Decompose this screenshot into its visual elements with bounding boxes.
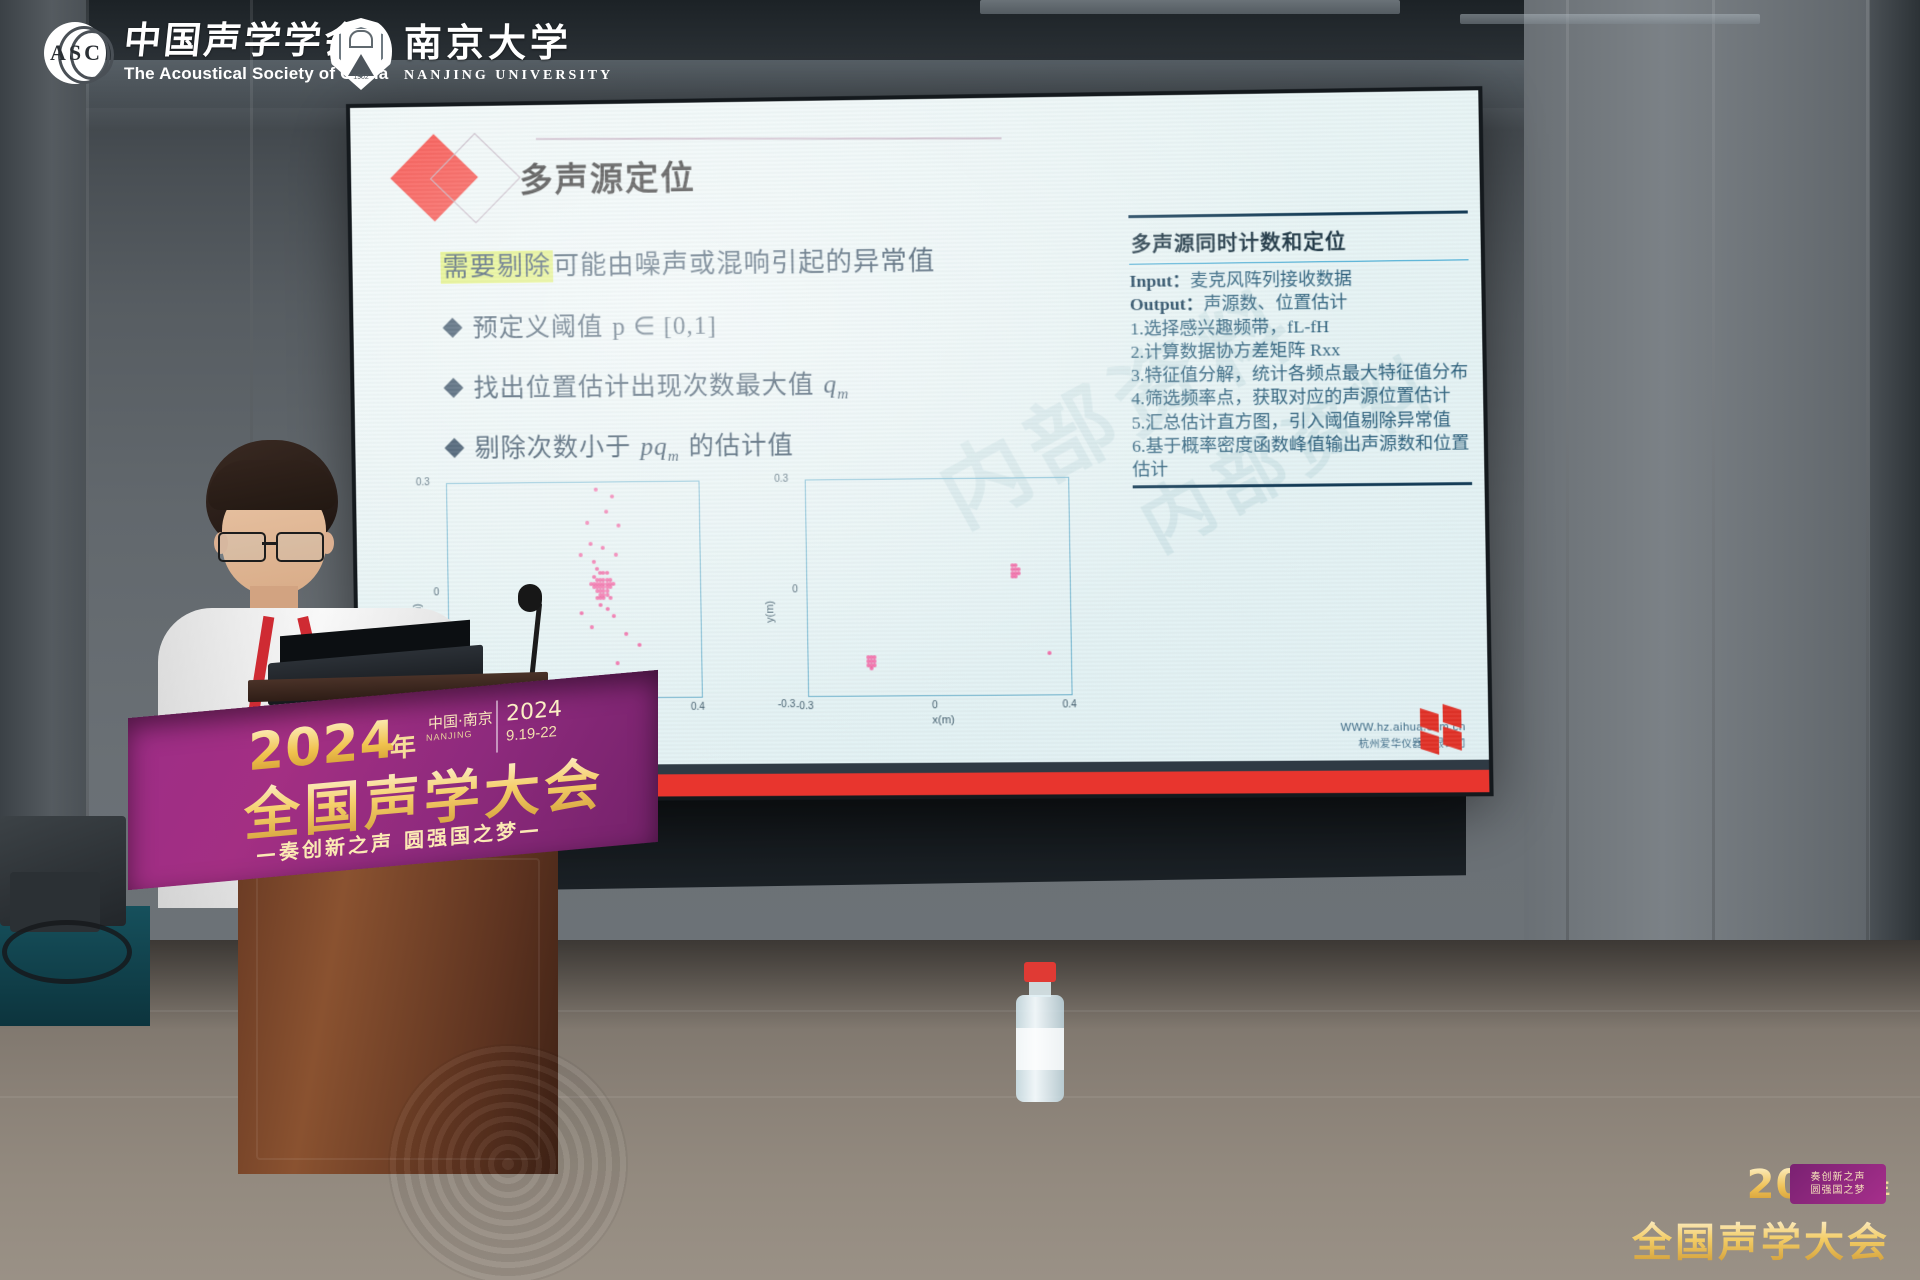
photo-scene: ASC 中国声学学会 The Acoustical Society of Chi… [0,0,1920,1280]
diamond-bullet-icon [443,318,463,338]
nju-shield-icon: 1902 [330,18,392,90]
bullet-math: q [823,371,837,398]
water-bottle [1012,962,1068,1102]
coiled-cable [2,920,132,984]
highlighted-phrase: 需要剔除 [440,250,553,284]
algorithm-input-value: 麦克风阵列接收数据 [1190,268,1352,290]
algorithm-output-value: 声源数、位置估计 [1203,292,1347,314]
podium-front-panel: 2024 年 全国声学大会 —奏创新之声 圆强国之梦— 中国·南京 NANJIN… [128,670,658,890]
slide-lead-line: 需要剔除可能由噪声或混响引起的异常值 [440,240,935,284]
plot-axes [805,477,1073,697]
corner-slogan-line1: 奏创新之声 [1811,1171,1866,1185]
scatter-point [579,553,583,557]
algorithm-body: Input：麦克风阵列接收数据 Output：声源数、位置估计 1.选择感兴趣频… [1129,260,1472,481]
scatter-point [1048,651,1052,655]
algorithm-step: 6.基于概率密度函数峰值输出声源数和位置估计 [1132,431,1472,482]
scatter-point [625,632,629,636]
corner-event-logo: 2024年 全国声学大会 奏创新之声 圆强国之梦 [1590,1162,1890,1258]
asc-emblem-icon: ASC [44,22,110,84]
nju-name-cn: 南京大学 [404,24,613,64]
bullet-text: 预定义阈值 [472,312,612,343]
scatter-point [869,667,873,671]
scatter-point [604,509,608,513]
speaker-fringe [208,460,336,510]
bullet-tail-text: 的估计值 [679,430,794,460]
wall-seam [1712,0,1715,1000]
podium-date-year: 2024 [506,697,562,727]
scatter-point [637,643,641,647]
x-axis-tick-right: 0.4 [1062,699,1076,710]
podium-date-range: 9.19-22 [506,723,557,745]
algorithm-step: 4.筛选频率点，获取对应的声源位置估计 [1131,384,1471,411]
bullet-item: 剔除次数小于 pqm 的估计值 [447,425,794,468]
title-underline [536,137,1002,139]
wall-right-panels [1524,0,1920,1010]
event-banner: ASC 中国声学学会 The Acoustical Society of Chi… [0,0,1920,110]
scatter-point [617,524,621,528]
scatter-point [614,553,618,557]
y-axis-tick-top: 0.3 [774,474,788,485]
bullet-math: pq [640,434,668,461]
scatter-point [599,603,603,607]
nanjing-university-logo: 1902 南京大学 NANJING UNIVERSITY [330,18,613,90]
bullet-text: 找出位置估计出现次数最大值 [473,370,823,403]
bullet-text: 剔除次数小于 [474,432,640,463]
algorithm-step: 5.汇总估计直方图，引入阈值剔除异常值 [1132,407,1472,434]
scatter-point [590,625,594,629]
scatter-point [605,607,609,611]
y-axis-tick-bottom: -0.3 [778,699,796,710]
scatter-point [616,661,620,665]
asc-emblem-text: ASC [50,40,103,66]
microphone-head-icon [518,584,542,612]
bottle-cap [1024,962,1056,982]
algorithm-input-label: Input： [1129,270,1190,291]
x-axis-tick-right: 0.4 [691,702,705,713]
wall-far-right-edge [1870,0,1920,1010]
scatter-point [608,596,612,600]
algorithm-title: 多声源同时计数和定位 [1128,213,1468,263]
bullet-math-subscript: m [837,386,849,402]
speaker-glasses [218,532,334,558]
podium: 2024 年 全国声学大会 —奏创新之声 圆强国之梦— 中国·南京 NANJIN… [120,694,660,1194]
diamond-bullet-icon [444,378,464,398]
nju-name-en: NANJING UNIVERSITY [404,68,613,84]
algorithm-output-label: Output： [1130,294,1204,315]
wall-seam [1866,0,1869,1000]
x-axis-tick-mid: 0 [932,700,938,711]
corner-slogan-line2: 圆强国之梦 [1811,1184,1866,1198]
scatter-point [592,560,596,564]
y-axis-label: y(m) [764,601,776,623]
corner-slogan-badge: 奏创新之声 圆强国之梦 [1790,1164,1886,1204]
scatter-plot-right: 0.3 0 -0.3 -0.3 0 0.4 x(m) y(m) [758,469,1087,724]
wall-seam [1566,0,1569,1000]
bullet-item: 找出位置估计出现次数最大值 qm [446,364,849,408]
vendor-logo-icon [1420,707,1466,752]
scatter-point [605,571,609,575]
scatter-point [601,546,605,550]
bullet-item: 预定义阈值 p ∈ [0,1] [445,305,717,344]
plot-axes [446,481,703,700]
algorithm-card: 多声源同时计数和定位 Input：麦克风阵列接收数据 Output：声源数、位置… [1128,210,1472,488]
y-axis-tick-mid: 0 [792,584,798,595]
corner-conference-title: 全国声学大会 [1632,1210,1890,1268]
podium-base [238,844,558,1174]
scatter-point [1010,575,1014,579]
nju-shield-year: 1902 [353,74,369,81]
scatter-point [612,614,616,618]
scatter-point [594,488,598,492]
scatter-point [585,520,589,524]
x-axis-tick-left: -0.3 [796,701,814,712]
scatter-point [610,495,614,499]
x-axis-label: x(m) [932,714,955,726]
bullet-math-subscript: m [668,449,680,465]
scatter-point [588,542,592,546]
slide-title: 多声源定位 [519,151,696,202]
bullet-math: p ∈ [0,1] [612,312,717,340]
scatter-point [580,611,584,615]
lead-rest-text: 可能由噪声或混响引起的异常值 [553,246,936,281]
scatter-point [602,596,606,600]
